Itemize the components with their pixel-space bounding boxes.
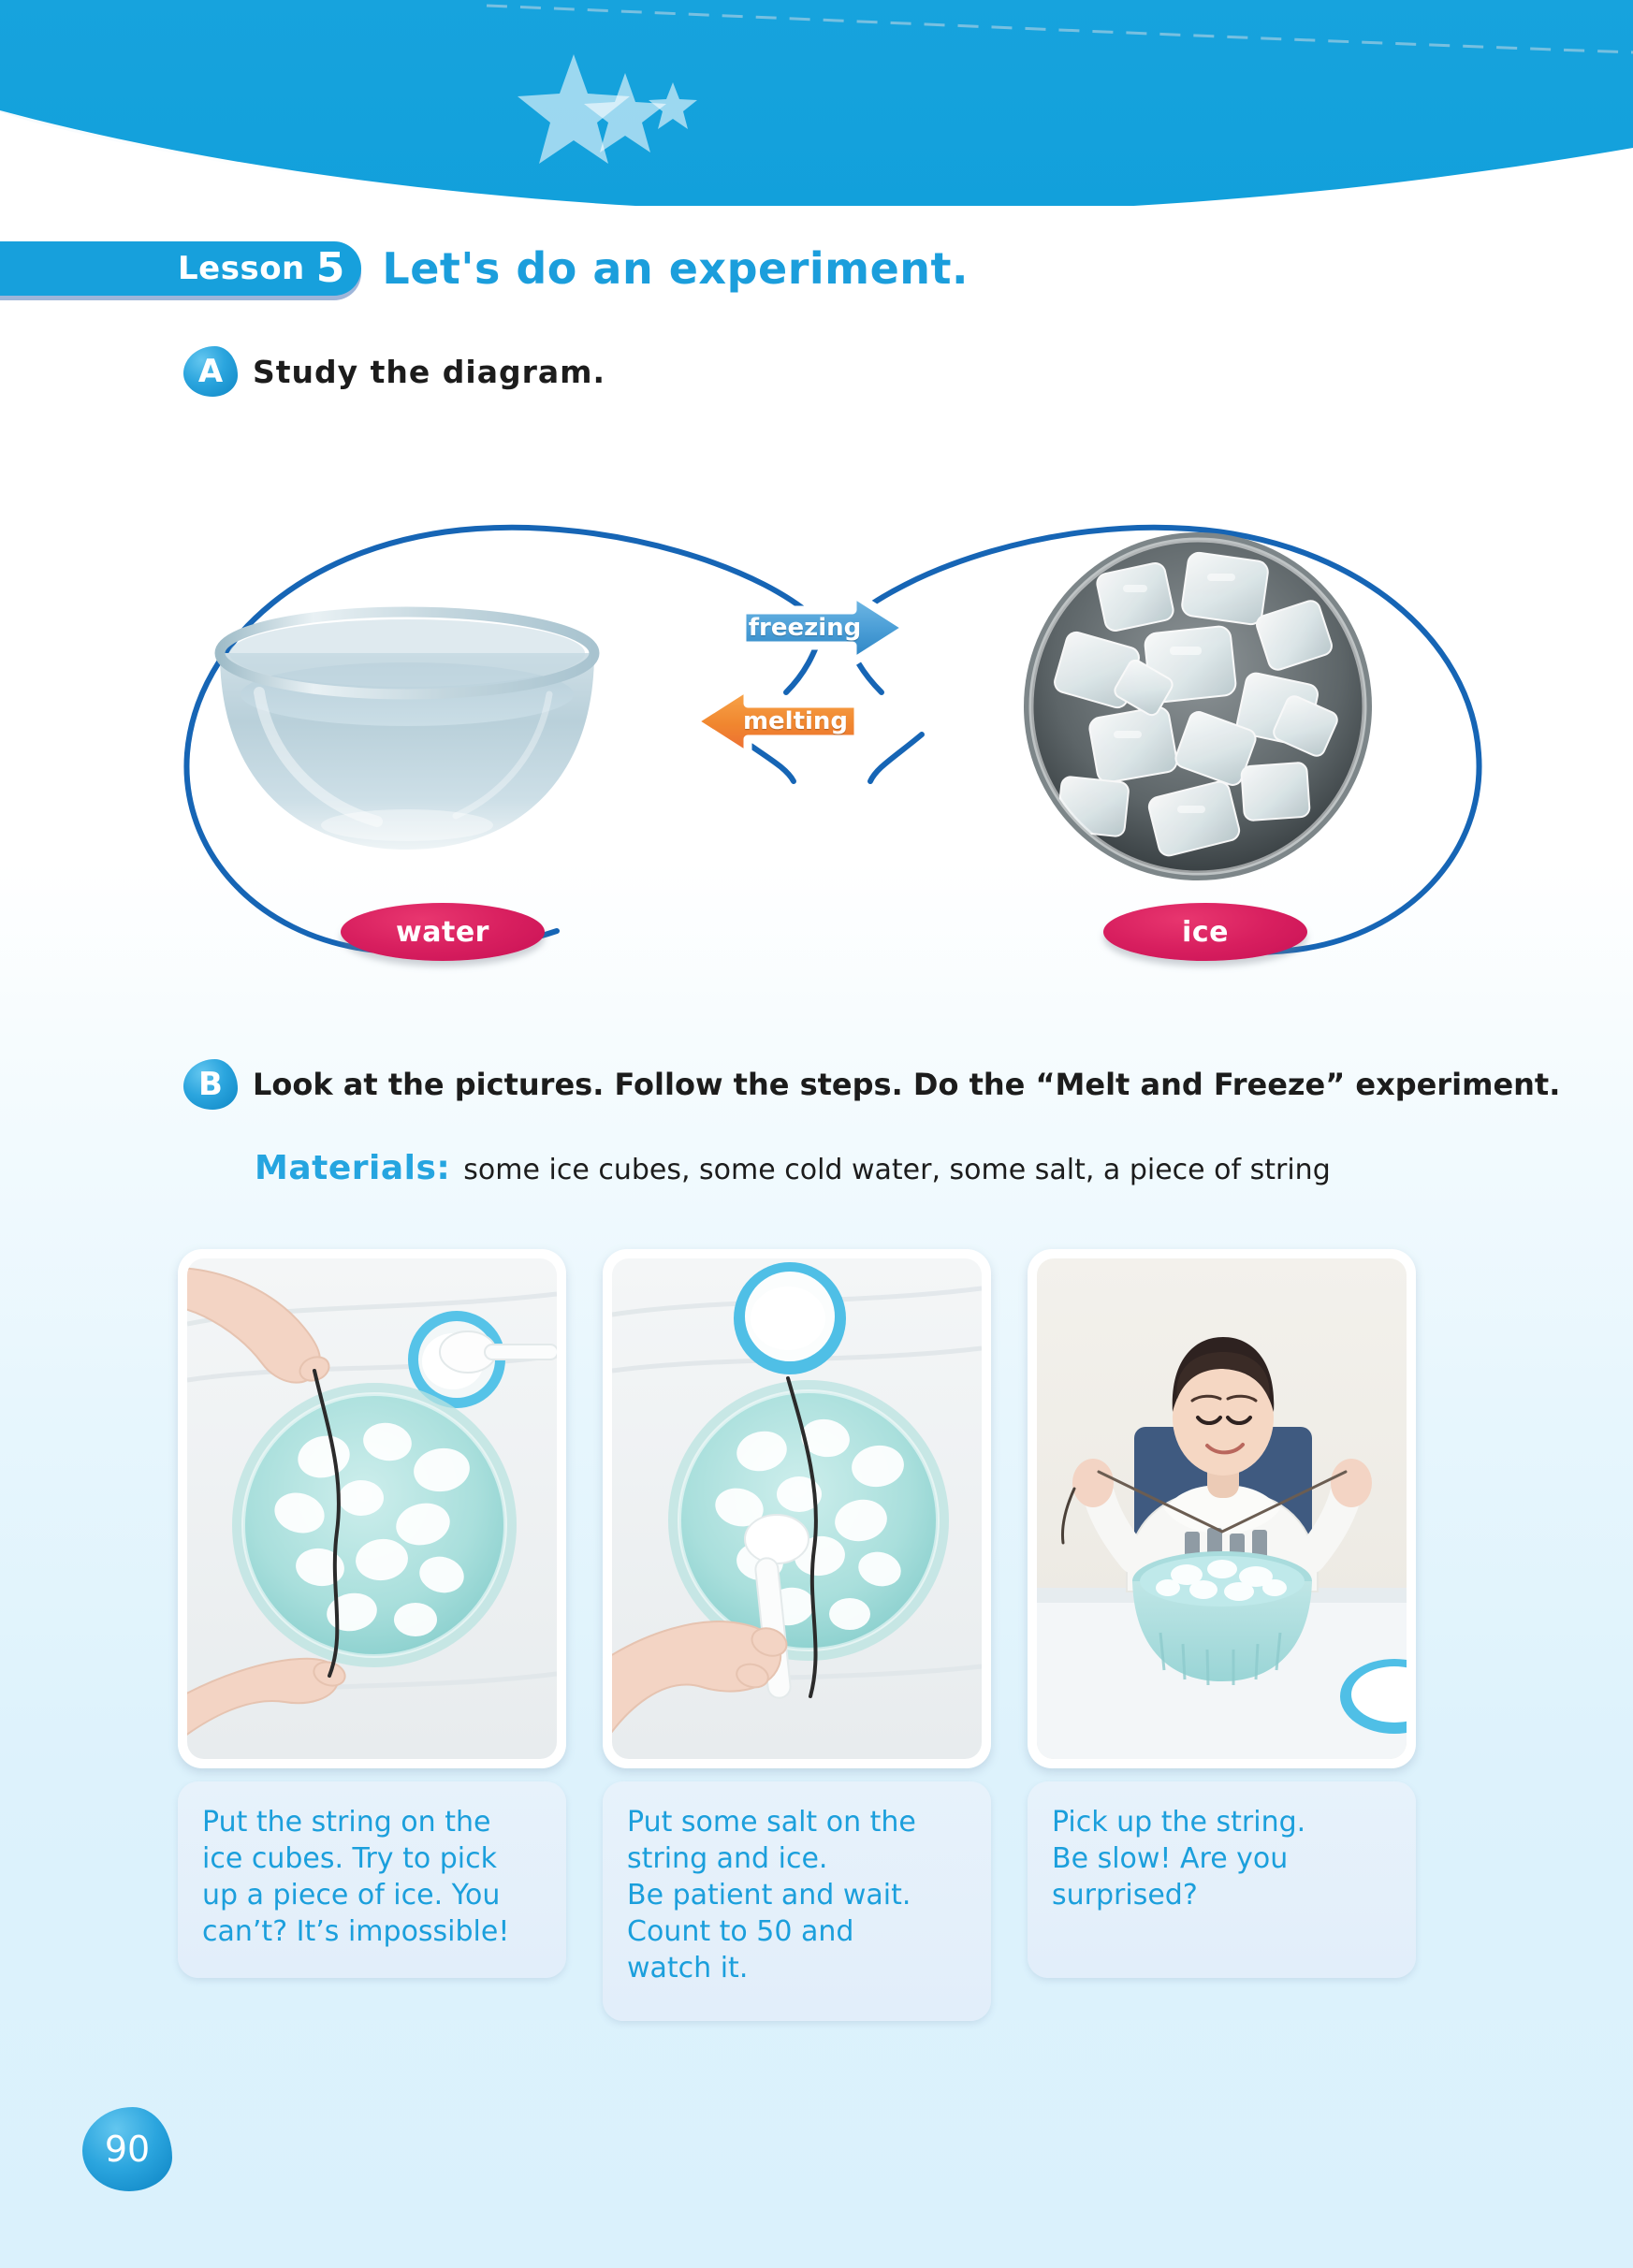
task-a-letter: A (198, 356, 223, 387)
lesson-number: 5 (316, 248, 345, 289)
lesson-title-row: Lesson 5 Let's do an experiment. (0, 240, 969, 298)
materials-row: Materials: some ice cubes, some cold wat… (255, 1149, 1331, 1187)
star-large (518, 54, 630, 164)
freezing-arrow: freezing (735, 589, 912, 666)
step-1-photo (187, 1258, 557, 1759)
star-small (649, 82, 697, 129)
step-card: Put some salt on the string and ice. Be … (603, 1249, 991, 2021)
lesson-label: Lesson (178, 250, 305, 287)
step-caption: Pick up the string. Be slow! Are you sur… (1052, 1804, 1392, 1913)
step-photo-frame (1028, 1249, 1416, 1768)
star-medium (584, 73, 666, 153)
hand-right (1331, 1459, 1372, 1507)
step-caption: Put the string on the ice cubes. Try to … (202, 1804, 542, 1950)
water-label-text: water (396, 916, 489, 949)
task-a-instruction: Study the diagram. (253, 354, 605, 390)
freezing-arrow-shape (742, 593, 907, 662)
band-shape (0, 0, 1633, 206)
water-bowl-image (201, 589, 613, 870)
experiment-steps: Put the string on the ice cubes. Try to … (178, 1249, 1446, 2021)
task-b-heading: B Look at the pictures. Follow the steps… (183, 1059, 1560, 1110)
band-edge-highlight (0, 118, 1633, 206)
materials-list: some ice cubes, some cold water, some sa… (463, 1154, 1330, 1186)
water-ice-cycle-diagram: freezing melting water ice (168, 426, 1497, 1006)
page-number: 90 (82, 2107, 172, 2191)
bowl-base-shine (321, 809, 493, 841)
hand-left (1072, 1459, 1114, 1507)
step-2-photo (612, 1258, 982, 1759)
ice-label-pill: ice (1103, 903, 1307, 961)
bowl-inner-rim (229, 619, 585, 687)
ice-label-text: ice (1182, 916, 1229, 949)
lesson-badge: Lesson 5 (0, 241, 361, 296)
page-number-text: 90 (105, 2129, 150, 2170)
melting-arrow-shape (693, 687, 858, 756)
step-caption-box: Pick up the string. Be slow! Are you sur… (1028, 1781, 1416, 1978)
band-dashed-line (487, 6, 1633, 52)
task-b-marker: B (183, 1059, 238, 1110)
loop-join-lower-right (870, 734, 922, 781)
step-3-photo (1037, 1258, 1407, 1759)
step-caption-box: Put the string on the ice cubes. Try to … (178, 1781, 566, 1978)
task-a-heading: A Study the diagram. (183, 346, 605, 397)
step-card: Put the string on the ice cubes. Try to … (178, 1249, 566, 2021)
ice-bowl-image (1011, 519, 1385, 894)
materials-label: Materials: (255, 1149, 450, 1187)
task-a-marker: A (183, 346, 238, 397)
band-echo (0, 0, 1633, 206)
step-photo-frame (178, 1249, 566, 1768)
water-label-pill: water (341, 903, 545, 961)
step-caption-box: Put some salt on the string and ice. Be … (603, 1781, 991, 2021)
step-card: Pick up the string. Be slow! Are you sur… (1028, 1249, 1416, 2021)
step-caption: Put some salt on the string and ice. Be … (627, 1804, 967, 1986)
header-decorative-band (0, 0, 1633, 206)
task-b-letter: B (198, 1069, 223, 1100)
step-photo-frame (603, 1249, 991, 1768)
melting-arrow: melting (688, 683, 866, 760)
task-b-instruction: Look at the pictures. Follow the steps. … (253, 1067, 1560, 1102)
textbook-page: Lesson 5 Let's do an experiment. A Study… (0, 0, 1633, 2268)
page-title: Let's do an experiment. (382, 243, 969, 294)
